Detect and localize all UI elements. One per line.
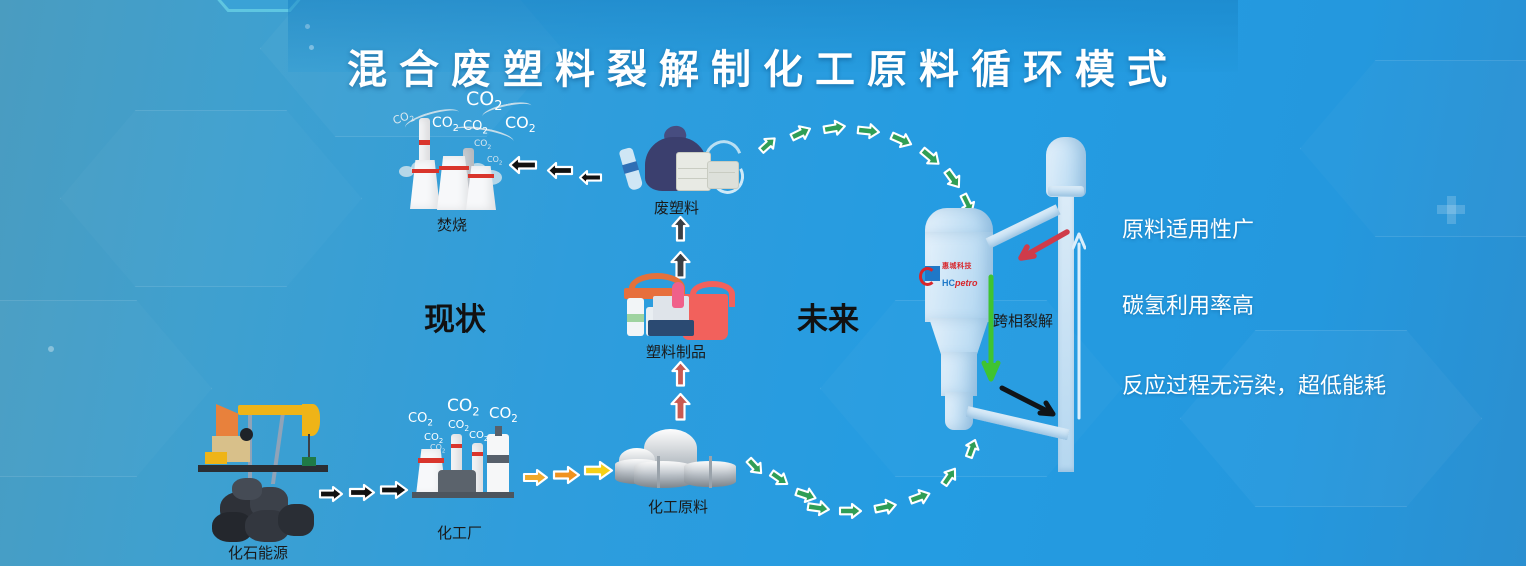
riser-flange	[1048, 186, 1084, 196]
tower-band	[412, 169, 439, 173]
foam-box-line	[678, 178, 707, 179]
flow-arrow-black-left	[546, 160, 574, 181]
flow-arrow-green	[741, 453, 768, 481]
pumpjack-pivot	[240, 428, 253, 441]
co2-label: CO2	[447, 396, 480, 418]
node-label-fossil-energy: 化石能源	[228, 542, 288, 563]
plus-decoration	[1437, 205, 1465, 214]
tower-band	[439, 166, 469, 170]
logo-text-en-blue: petro	[955, 278, 978, 288]
page-title: 混合废塑料裂解制化工原料循环模式	[0, 37, 1526, 95]
flow-arrow-gray-up	[670, 215, 691, 243]
pumpjack-motor	[205, 452, 227, 464]
feature-item-1: 原料适用性广	[1122, 212, 1254, 244]
co2-label: CO2	[487, 155, 502, 167]
flow-arrow-green	[754, 131, 782, 158]
reactor-arrow-black	[999, 384, 1065, 422]
flow-arrow-yellow	[583, 459, 614, 482]
flow-arrow-green	[886, 127, 916, 154]
node-label-chemical-feedstock: 化工原料	[648, 496, 708, 517]
chimney-band	[472, 452, 483, 456]
logo-text-en: HCpetro	[942, 278, 978, 288]
foam-box	[676, 152, 711, 191]
flow-arrow-green	[939, 164, 968, 194]
column-top	[495, 426, 502, 436]
dot-accent	[48, 346, 54, 352]
node-label-plastic-products: 塑料制品	[646, 341, 706, 362]
reactor-standpipe	[941, 352, 977, 396]
section-label-future: 未来	[797, 294, 859, 339]
flow-arrow-green	[906, 484, 935, 509]
flow-arrow-green	[871, 496, 899, 519]
coal-lump	[278, 504, 314, 536]
chimney-band	[451, 444, 462, 448]
node-label-chemical-plant: 化工厂	[437, 522, 482, 543]
co2-label: CO2	[432, 115, 459, 134]
flow-arrow-black-right	[379, 479, 409, 501]
infographic-canvas: 混合废塑料裂解制化工原料循环模式 现状 未来 CO2 CO2 CO2 CO2 C…	[0, 0, 1526, 566]
company-logo: 惠城科技 HCpetro	[925, 255, 978, 291]
hex-shape	[0, 300, 212, 477]
plant-ground	[412, 492, 514, 498]
hex-shape	[1180, 330, 1482, 507]
co2-label: CO2	[466, 88, 502, 114]
container-base	[648, 320, 694, 336]
logo-mark	[925, 266, 940, 281]
feature-item-3: 反应过程无污染，超低能耗	[1122, 368, 1386, 400]
pumpjack-head	[302, 404, 320, 436]
foam-box-line	[678, 168, 707, 169]
flow-arrow-green	[838, 502, 863, 520]
node-label-incineration: 焚烧	[437, 214, 467, 235]
flow-arrow-green	[765, 465, 794, 492]
pumpjack-platform	[198, 465, 328, 472]
co2-label: CO2	[489, 404, 518, 425]
tower-band	[468, 174, 494, 178]
flow-arrow-green	[915, 142, 946, 172]
chimney-band	[419, 140, 430, 145]
co2-label: CO2	[474, 139, 491, 151]
flow-arrow-black-right	[348, 482, 376, 503]
flow-arrow-yellow	[552, 464, 581, 486]
co2-label: CO2	[448, 418, 469, 433]
internal-riser-arrow	[1072, 230, 1079, 412]
flow-arrow-green	[960, 435, 983, 461]
flow-arrow-black-right	[318, 484, 344, 504]
pumpjack-leg	[271, 412, 285, 484]
flow-arrow-green	[936, 462, 963, 491]
foam-box	[707, 161, 739, 189]
flow-arrow-black-left	[508, 154, 538, 176]
flow-arrow-green	[786, 120, 815, 147]
reactor-arrow-red	[1005, 228, 1071, 270]
flow-arrow-red-up	[670, 360, 691, 388]
foam-box-line	[709, 172, 735, 173]
detergent-bottle	[672, 282, 684, 308]
co2-label: CO2	[505, 113, 536, 135]
milk-bottle-band	[627, 314, 644, 322]
hex-shape	[60, 110, 362, 287]
flow-arrow-green	[855, 121, 882, 142]
feature-item-2: 碳氢利用率高	[1122, 288, 1254, 320]
flow-arrow-yellow	[522, 467, 549, 488]
coal-lump	[232, 478, 262, 500]
tower-band	[418, 458, 444, 463]
flow-arrow-black-left	[578, 168, 603, 187]
reactor-process-label: 跨相裂解	[993, 310, 1053, 331]
section-label-present: 现状	[424, 294, 486, 339]
column-band	[487, 455, 509, 463]
tank-ladder	[709, 456, 712, 488]
co2-label: CO2	[408, 411, 433, 429]
wellhead	[302, 457, 316, 466]
flow-arrow-green	[821, 117, 849, 139]
logo-text-cn: 惠城科技	[942, 263, 972, 270]
co2-label: CO2	[469, 430, 488, 443]
flow-arrow-red-up	[669, 392, 692, 422]
tank-ladder	[657, 456, 660, 488]
distillation-column	[487, 434, 509, 496]
logo-text-en-red: HC	[942, 278, 955, 288]
co2-label: CO2	[463, 119, 488, 137]
